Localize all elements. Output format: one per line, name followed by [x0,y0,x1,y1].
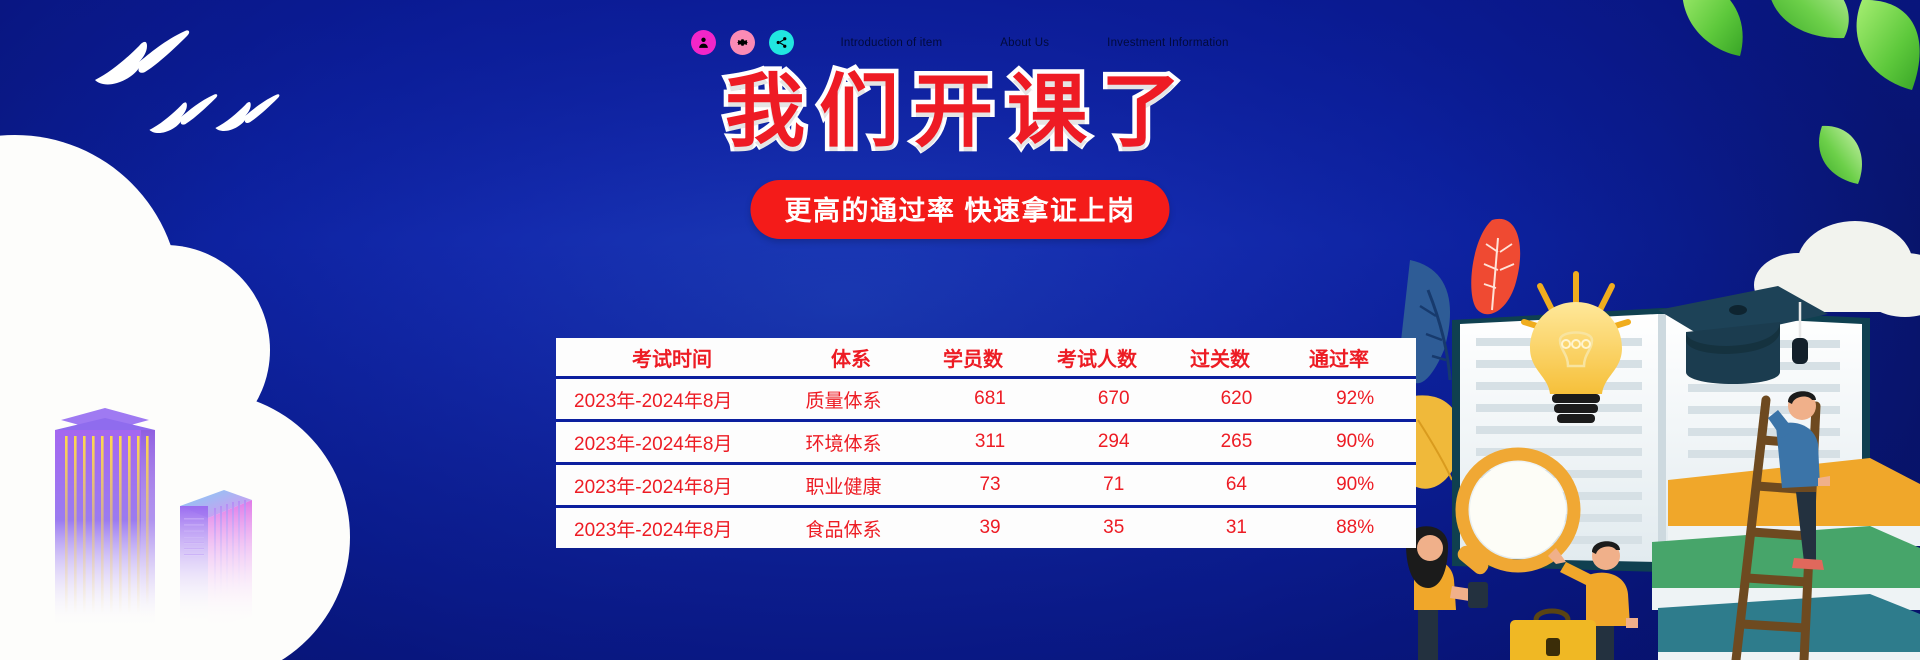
col-header-exam-time: 考试时间 [556,343,788,372]
cell-pass-rate: 90% [1294,431,1416,453]
user-icon[interactable] [691,30,716,55]
col-header-passed: 过关数 [1162,343,1278,372]
cell-system: 职业健康 [805,472,931,499]
cell-exam-time: 2023年-2024年8月 [556,472,805,499]
nav-link-introduction[interactable]: Introduction of item [840,37,942,49]
cell-pass-rate: 92% [1294,388,1416,410]
promo-banner: Introduction of item About Us Investment… [0,0,1920,660]
top-navigation: Introduction of item About Us Investment… [0,30,1920,55]
gear-icon[interactable] [730,30,755,55]
cell-examinees: 71 [1049,474,1179,496]
col-header-examinees: 考试人数 [1032,343,1162,372]
hero-headline: 我们开课了 [0,72,1920,152]
subtitle-text: 更高的通过率 快速拿证上岗 [784,196,1135,226]
cell-exam-time: 2023年-2024年8月 [556,429,805,456]
cell-passed: 265 [1179,431,1295,453]
cell-passed: 620 [1179,388,1295,410]
cell-passed: 64 [1179,474,1295,496]
cell-pass-rate: 88% [1294,517,1416,539]
cell-system: 质量体系 [805,386,931,413]
col-header-system: 体系 [788,343,914,372]
headline-text: 我们开课了 [725,72,1195,152]
cell-system: 环境体系 [805,429,931,456]
cell-examinees: 670 [1049,388,1179,410]
nav-links: Introduction of item About Us Investment… [840,37,1228,49]
briefcase-icon [1510,611,1596,660]
cell-pass-rate: 90% [1294,474,1416,496]
hero-subtitle-pill: 更高的通过率 快速拿证上岗 [750,180,1169,239]
cell-examinees: 294 [1049,431,1179,453]
nav-link-about-us[interactable]: About Us [1000,37,1049,49]
col-header-students: 学员数 [914,343,1032,372]
cell-students: 39 [931,517,1049,539]
table-row: 2023年-2024年8月 环境体系 311 294 265 90% [556,419,1416,462]
nav-link-investment-information[interactable]: Investment Information [1107,37,1228,49]
share-icon[interactable] [769,30,794,55]
table-row: 2023年-2024年8月 质量体系 681 670 620 92% [556,376,1416,419]
building-shape [45,408,165,653]
cell-examinees: 35 [1049,517,1179,539]
col-header-pass-rate: 通过率 [1278,343,1400,372]
cell-students: 681 [931,388,1049,410]
table-header-row: 考试时间 体系 学员数 考试人数 过关数 通过率 [556,338,1416,376]
cell-passed: 31 [1179,517,1295,539]
cell-students: 73 [931,474,1049,496]
table-row: 2023年-2024年8月 职业健康 73 71 64 90% [556,462,1416,505]
cell-exam-time: 2023年-2024年8月 [556,515,805,542]
building-shape [178,488,258,653]
cell-system: 食品体系 [805,515,931,542]
results-table: 考试时间 体系 学员数 考试人数 过关数 通过率 2023年-2024年8月 质… [556,338,1416,548]
cell-exam-time: 2023年-2024年8月 [556,386,805,413]
table-row: 2023年-2024年8月 食品体系 39 35 31 88% [556,505,1416,548]
cell-students: 311 [931,431,1049,453]
education-illustration [1400,190,1920,660]
